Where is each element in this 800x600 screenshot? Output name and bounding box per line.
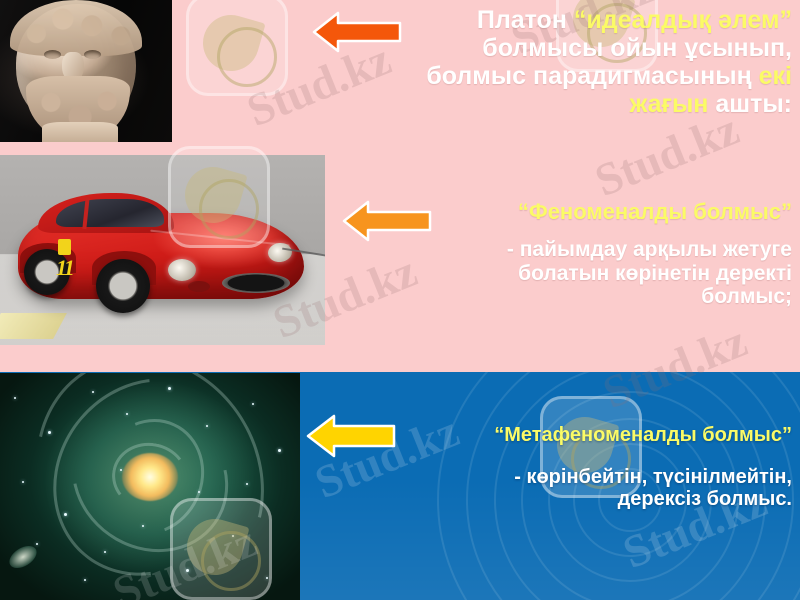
text-line: болатын көрінетін деректі (340, 262, 792, 286)
text-block-metaphenomenal-being: - көрінбейтін, түсінілмейтін, дерексіз б… (330, 466, 792, 511)
car-front-grille (222, 273, 290, 293)
presentation-slide: 11 (0, 0, 800, 600)
ferrari-car-photo: 11 (0, 155, 325, 345)
car-race-number: 11 (56, 255, 73, 281)
car-front-wheel (96, 259, 150, 313)
plato-neck-shape (42, 122, 118, 142)
text-run: Платон (477, 6, 574, 34)
text-run: ашты: (708, 90, 792, 118)
car-headlight-near (168, 259, 196, 281)
left-arrow-orange-red-glyph (312, 10, 402, 54)
heading-metaphenomenal-being: “Метафеноменалды болмыс” (390, 424, 792, 446)
watermark-logo-1 (186, 0, 288, 96)
text-line: дерексіз болмыс. (330, 488, 792, 510)
plato-eye-right (84, 50, 101, 59)
left-arrow-yellow (306, 412, 396, 460)
text-block-phenomenal-being: - пайымдау арқылы жетуге болатын көрінет… (340, 238, 792, 309)
left-arrow-yellow-glyph (306, 412, 396, 460)
text-line: - пайымдау арқылы жетуге (340, 238, 792, 262)
stud-kz-leaf-logo (186, 0, 288, 96)
ferrari-shield-badge (58, 239, 71, 255)
text-run-highlight: жағын (630, 90, 709, 118)
plato-eye-left (44, 50, 61, 59)
left-arrow-orange-red (312, 10, 402, 54)
text-line: - көрінбейтін, түсінілмейтін, (330, 466, 792, 488)
text-line: болмыс; (340, 285, 792, 309)
heading-phenomenal-being: “Феноменалды болмыс” (398, 200, 792, 225)
star-field (0, 373, 300, 600)
text-line: болмыс парадигмасының екі (400, 62, 792, 90)
text-block-ideal-world: Платон “идеалдық әлем” болмысы ойын ұсын… (400, 6, 792, 118)
text-line: болмысы ойын ұсынып, (400, 34, 792, 62)
text-line: жағын ашты: (400, 90, 792, 118)
text-line: Платон “идеалдық әлем” (400, 6, 792, 34)
spiral-galaxy-photo (0, 373, 300, 600)
plato-bust-photo (0, 0, 172, 142)
car-side-vent (188, 281, 210, 292)
text-run-highlight: екі (759, 62, 792, 90)
text-run: болмыс парадигмасының (426, 62, 758, 90)
text-run: болмысы ойын ұсынып, (482, 34, 792, 62)
text-run-highlight: “идеалдық әлем” (574, 6, 792, 34)
